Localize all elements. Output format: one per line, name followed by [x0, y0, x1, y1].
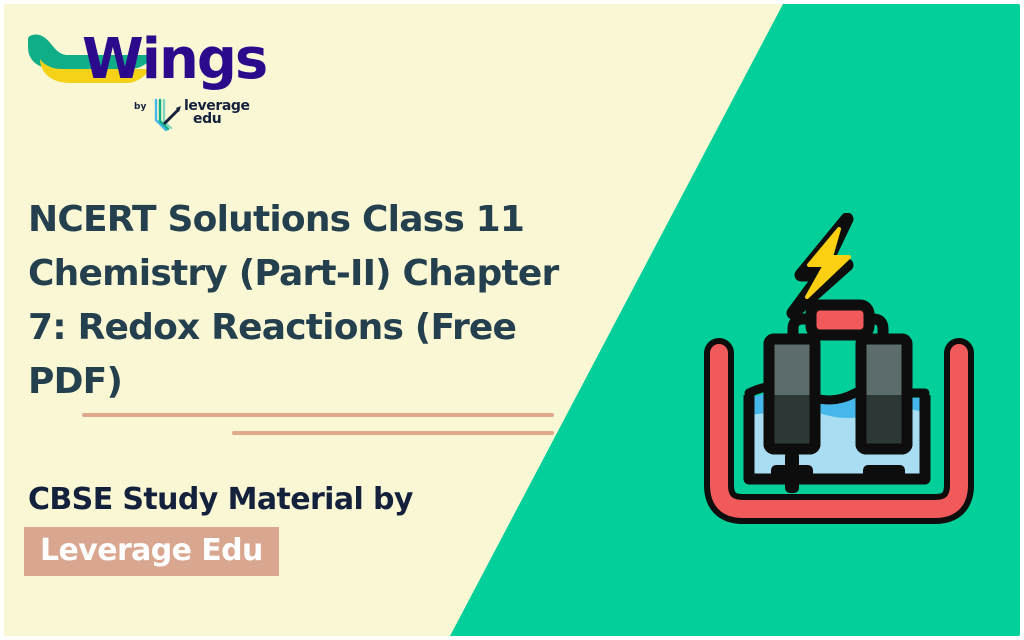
banner-canvas: Wings by leverage edu NCERT Solutions Cl…: [0, 0, 1024, 640]
anode-electrode: [769, 339, 815, 449]
footer-attribution: CBSE Study Material by: [28, 482, 413, 517]
divider-bottom: [232, 431, 554, 435]
electrolysis-cell-illustration: [697, 213, 981, 525]
logo-sub-wordmark: leverage edu: [184, 100, 250, 126]
divider-top: [82, 413, 554, 417]
logo-by-label: by: [134, 102, 146, 112]
cathode-electrode: [861, 339, 907, 449]
brand-badge: Leverage Edu: [24, 527, 279, 576]
logo-wordmark: Wings: [82, 32, 266, 88]
lightning-bolt-icon: [793, 219, 849, 313]
page-title: NCERT Solutions Class 11 Chemistry (Part…: [28, 193, 608, 409]
logo-sub-line-2: edu: [184, 113, 250, 126]
minus-symbol: [863, 465, 905, 479]
battery-power-source: [811, 305, 869, 335]
leverage-edu-v-mark-icon: [152, 98, 182, 134]
wings-by-leverage-edu-logo[interactable]: Wings by leverage edu: [26, 28, 286, 138]
